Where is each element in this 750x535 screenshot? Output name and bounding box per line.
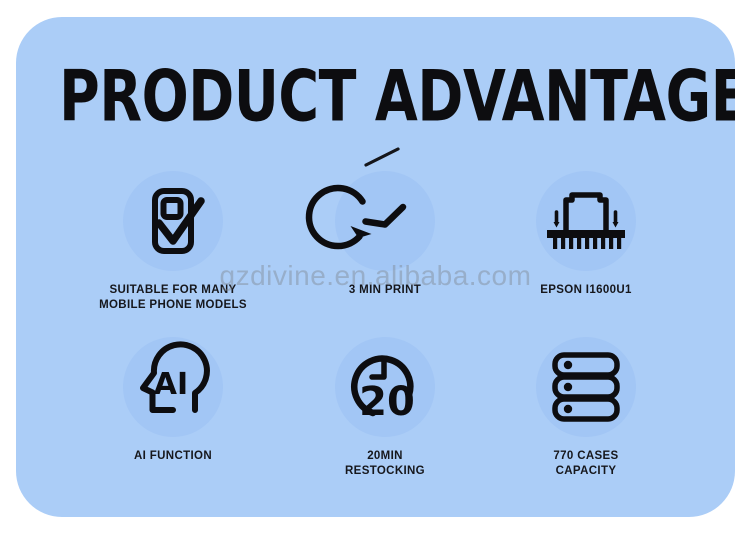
feature-label: EPSON I1600U1 <box>486 283 686 298</box>
feature-icon-badge <box>335 171 435 271</box>
title-block: PRODUCT ADVANTAGES <box>16 61 735 124</box>
feature-label: SUITABLE FOR MANY MOBILE PHONE MODELS <box>73 283 273 313</box>
feature-icon-badge: 20 <box>335 337 435 437</box>
page-title: PRODUCT ADVANTAGES <box>59 61 692 132</box>
feature-label: 3 MIN PRINT <box>285 283 485 298</box>
feature-label: 770 CASES CAPACITY <box>486 449 686 479</box>
feature-icon-badge <box>536 337 636 437</box>
feature-icon-badge <box>123 171 223 271</box>
feature-label: 20MIN RESTOCKING <box>285 449 485 479</box>
feature-three-min-print[interactable]: 3 MIN PRINT <box>285 171 485 298</box>
title-flourish-stroke <box>364 147 402 167</box>
printhead-icon <box>544 184 628 258</box>
phone-check-icon <box>135 183 211 259</box>
feature-label: AI FUNCTION <box>73 449 273 464</box>
feature-epson-printhead[interactable]: EPSON I1600U1 <box>486 171 686 298</box>
feature-icon-badge: AI <box>123 337 223 437</box>
ai-head-icon: AI <box>133 348 213 426</box>
clock-20-icon: 20 <box>343 345 427 429</box>
feature-icon-badge <box>536 171 636 271</box>
feature-cases-capacity[interactable]: 770 CASES CAPACITY <box>486 337 686 479</box>
server-rack-icon <box>548 349 624 425</box>
svg-text:AI: AI <box>154 367 188 402</box>
clock-icon-value: 20 <box>359 379 415 425</box>
feature-ai-function[interactable]: AI AI FUNCTION <box>73 337 273 464</box>
clock-refresh-icon <box>343 179 427 263</box>
feature-suitable-phone-models[interactable]: SUITABLE FOR MANY MOBILE PHONE MODELS <box>73 171 273 313</box>
feature-twenty-min-restocking[interactable]: 20 20MIN RESTOCKING <box>285 337 485 479</box>
product-advantages-poster: PRODUCT ADVANTAGES SUITABLE FOR MANY MOB… <box>16 17 735 517</box>
